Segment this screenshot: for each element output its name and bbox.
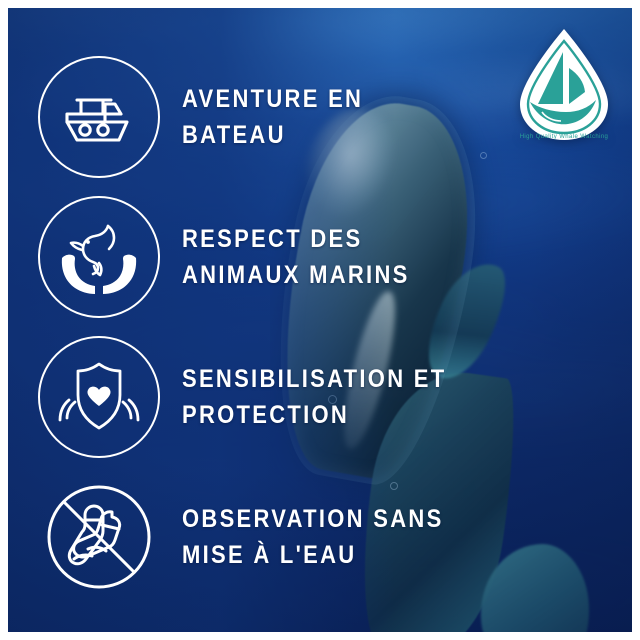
feature-row-marine-respect: RESPECT DES ANIMAUX MARINS	[38, 196, 441, 318]
boat-icon	[38, 56, 160, 178]
high-quality-whale-watching-badge[interactable]: High Quality Whale Watching	[512, 26, 616, 144]
shield-heart-icon	[38, 336, 160, 458]
poster-canvas: AVENTURE EN BATEAU	[0, 0, 640, 640]
feature-row-no-water-entry: OBSERVATION SANS MISE À L'EAU	[38, 476, 479, 598]
feature-label: SENSIBILISATION ET PROTECTION	[182, 361, 446, 433]
logo-caption-ring: High Quality Whale Watching	[520, 134, 609, 140]
dolphin-in-hands-icon	[38, 196, 160, 318]
feature-label: RESPECT DES ANIMAUX MARINS	[182, 221, 410, 293]
feature-row-awareness: SENSIBILISATION ET PROTECTION	[38, 336, 483, 458]
poster-frame: AVENTURE EN BATEAU	[8, 8, 632, 632]
feature-label: OBSERVATION SANS MISE À L'EAU	[182, 501, 444, 573]
feature-row-boat: AVENTURE EN BATEAU	[38, 56, 388, 178]
feature-label: AVENTURE EN BATEAU	[182, 81, 363, 153]
logo-caption: High Quality Whale Watching	[520, 134, 609, 140]
no-swim-fins-icon	[38, 476, 160, 598]
